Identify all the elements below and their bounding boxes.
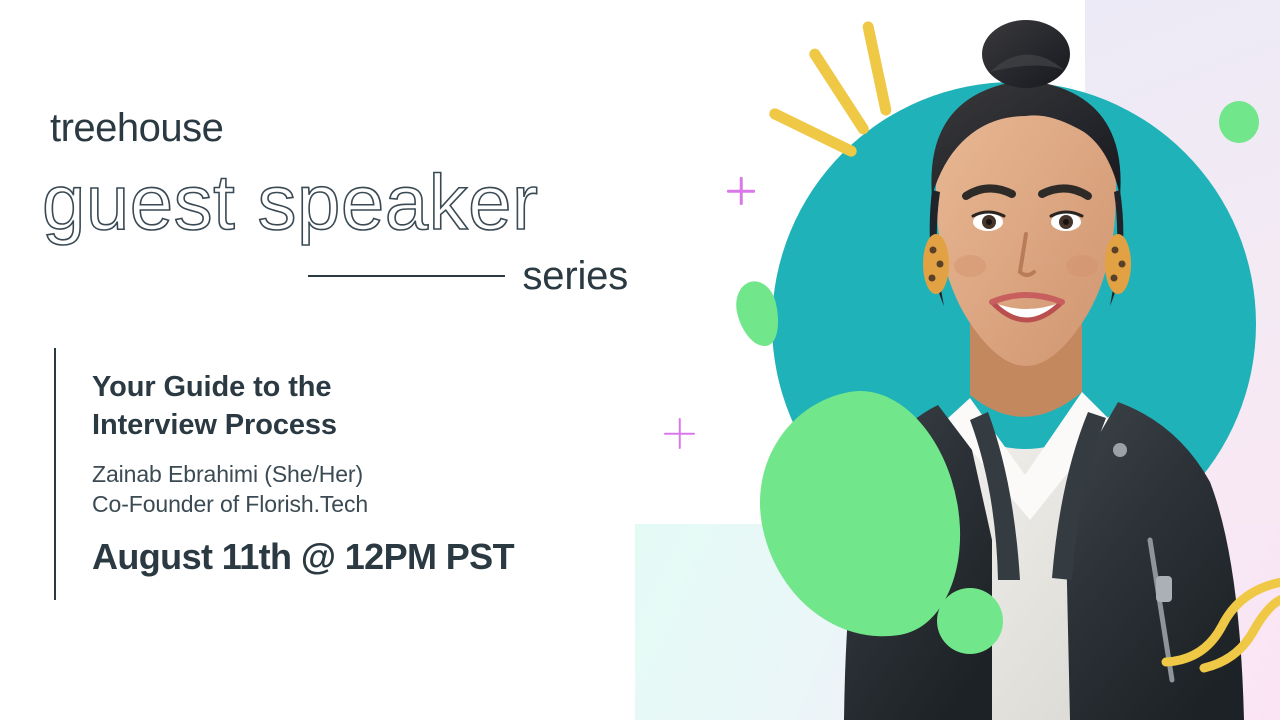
guest-speaker-promo-slide: treehouse guest speaker series Your Guid… xyxy=(0,0,1280,720)
speaker-role: Co-Founder of Florish.Tech xyxy=(92,489,612,520)
headline-guest-speaker: guest speaker xyxy=(42,163,538,241)
magenta-plus-icon-top xyxy=(727,177,755,205)
series-divider-rule xyxy=(308,275,505,277)
detail-block-vertical-rule xyxy=(54,348,56,600)
talk-title: Your Guide to the Interview Process xyxy=(92,368,612,445)
talk-title-line-1: Your Guide to the xyxy=(92,368,612,406)
magenta-plus-icon-bottom xyxy=(664,418,695,449)
event-date-time: August 11th @ 12PM PST xyxy=(92,537,612,577)
speaker-name: Zainab Ebrahimi (She/Her) xyxy=(92,459,612,490)
talk-title-line-2: Interview Process xyxy=(92,406,612,444)
yellow-wave-lines xyxy=(1160,568,1280,683)
brand-name: treehouse xyxy=(50,108,223,148)
series-row: series xyxy=(308,256,628,296)
talk-detail-block: Your Guide to the Interview Process Zain… xyxy=(92,368,612,576)
headline-series-word: series xyxy=(523,256,629,296)
green-circle-bottom-shape xyxy=(937,588,1003,654)
